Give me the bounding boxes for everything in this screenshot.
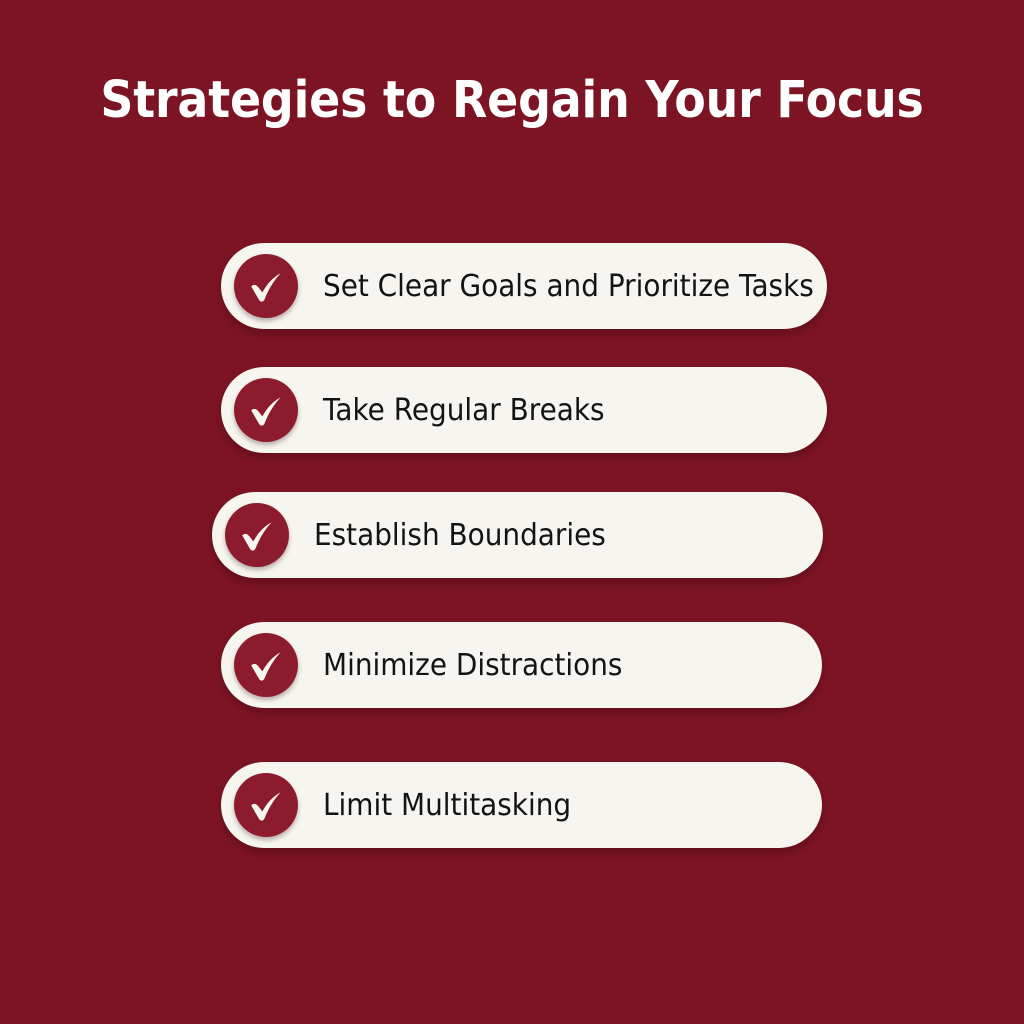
check-mark-icon <box>234 633 298 697</box>
list-item-label: Establish Boundaries <box>314 519 787 552</box>
poster-canvas: Strategies to Regain Your Focus Set Clea… <box>0 0 1024 1024</box>
strategy-list: Set Clear Goals and Prioritize Tasks Tak… <box>0 243 1024 863</box>
list-item[interactable]: Establish Boundaries <box>212 492 823 578</box>
list-item[interactable]: Take Regular Breaks <box>221 367 827 453</box>
check-mark-icon <box>234 378 298 442</box>
page-title: Strategies to Regain Your Focus <box>51 72 973 131</box>
list-item[interactable]: Minimize Distractions <box>221 622 822 708</box>
check-mark-icon <box>234 773 298 837</box>
list-item[interactable]: Set Clear Goals and Prioritize Tasks <box>221 243 827 329</box>
list-item[interactable]: Limit Multitasking <box>221 762 822 848</box>
list-item-label: Set Clear Goals and Prioritize Tasks <box>323 270 836 303</box>
list-item-label: Take Regular Breaks <box>323 394 792 427</box>
list-item-label: Minimize Distractions <box>323 649 787 682</box>
check-mark-icon <box>234 254 298 318</box>
check-mark-icon <box>225 503 289 567</box>
list-item-label: Limit Multitasking <box>323 789 787 822</box>
